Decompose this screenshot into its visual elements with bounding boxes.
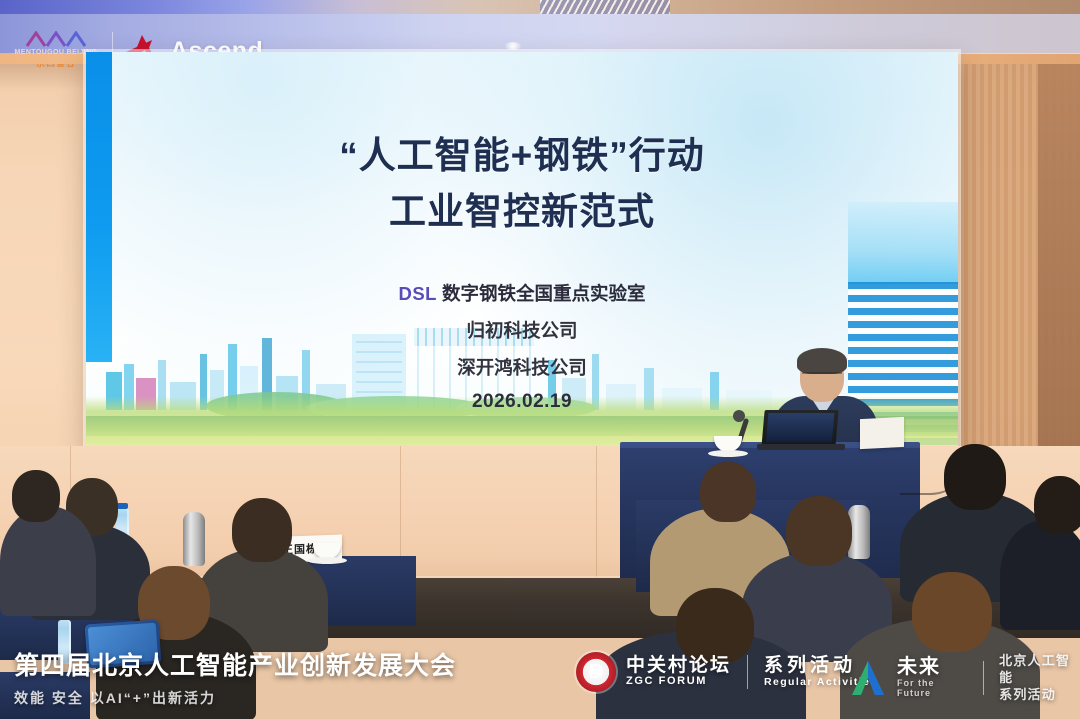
bottle-cap: [117, 503, 128, 509]
slide-org-1: 归初科技公司: [86, 317, 958, 343]
laptop-base: [757, 444, 845, 450]
zgc-chinese-label: 中关村论坛: [626, 656, 731, 677]
saucer: [307, 557, 347, 564]
stage-seam: [596, 446, 597, 596]
slide-title-line-1: “人工智能+钢铁”行动: [86, 128, 958, 184]
future-chinese-label: 未来: [897, 657, 968, 679]
conference-photo-scene: MENTOUGOU BEIJING 京西智谷 Ascend: [0, 0, 1080, 719]
thermos: [183, 512, 205, 566]
laptop: [761, 410, 838, 448]
laptop-screen: [766, 413, 835, 442]
slide-title-line-2: 工业智控新范式: [86, 184, 958, 240]
overlay-divider: [747, 655, 748, 689]
event-title-overlay: 第四届北京人工智能产业创新发展大会 效能 安全 以AI“+”出新活力: [14, 646, 434, 708]
zgc-text-block: 中关村论坛 ZGC FORUM: [626, 656, 731, 688]
zgc-logo-icon: D: [576, 652, 616, 692]
saucer: [708, 450, 748, 457]
future-english-label: For the Future: [897, 679, 968, 698]
mtg-mark-icon: [25, 31, 87, 48]
slide-lab-line: DSL数字钢铁全国重点实验室: [86, 280, 958, 306]
glasses-icon: [802, 372, 842, 380]
future-series-block: 北京人工智能 系列活动: [999, 652, 1080, 703]
slide-title-block: “人工智能+钢铁”行动 工业智控新范式: [86, 128, 958, 240]
presenter-hair: [797, 348, 847, 374]
microphone-icon: [733, 410, 745, 422]
zgc-forum-overlay: D 中关村论坛 ZGC FORUM 系列活动 Regular Activitie…: [576, 652, 878, 692]
lab-name-label: 数字钢铁全国重点实验室: [442, 283, 646, 304]
dsl-wordmark: DSL: [398, 283, 437, 304]
event-subtitle: 效能 安全 以AI“+”出新活力: [14, 688, 434, 708]
future-ai-overlay: 未来 For the Future 北京人工智能 系列活动: [848, 652, 1080, 703]
future-text-block: 未来 For the Future: [897, 657, 968, 698]
overlay-divider: [983, 661, 984, 695]
future-series-line-2: 系列活动: [999, 686, 1080, 703]
a-mark-svg: [848, 658, 888, 698]
event-title: 第四届北京人工智能产业创新发展大会: [14, 646, 434, 682]
future-series-line-1: 北京人工智能: [999, 652, 1080, 686]
paper-stack: [860, 417, 904, 449]
zgc-english-label: ZGC FORUM: [626, 676, 731, 688]
sponsor-banner: MENTOUGOU BEIJING 京西智谷 Ascend: [0, 14, 1080, 54]
ceiling-light: [505, 42, 521, 50]
future-a-logo-icon: [848, 658, 888, 698]
